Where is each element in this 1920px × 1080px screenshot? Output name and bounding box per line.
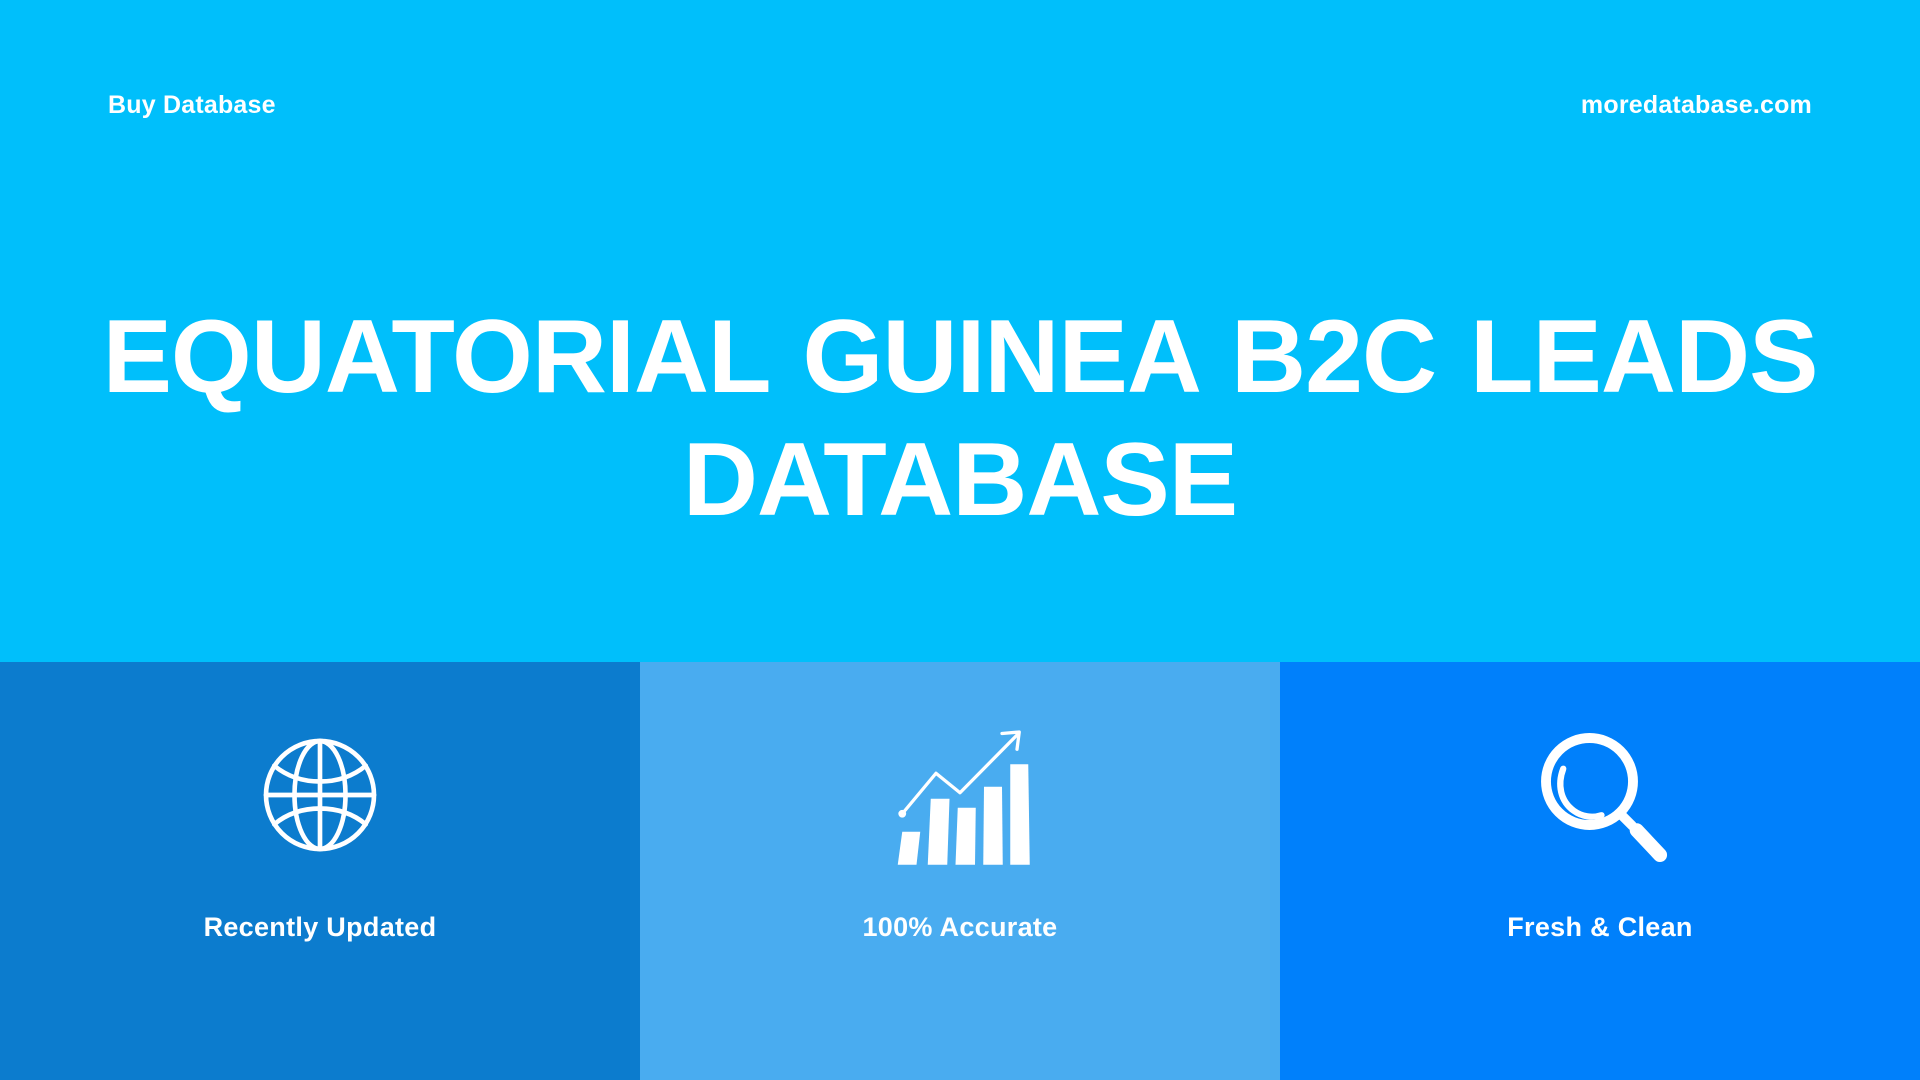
hero-section: Buy Database moredatabase.com EQUATORIAL…: [0, 0, 1920, 662]
promo-banner: Buy Database moredatabase.com EQUATORIAL…: [0, 0, 1920, 1080]
site-url-label: moredatabase.com: [1581, 93, 1812, 118]
feature-panel-label: Recently Updated: [204, 914, 437, 941]
growth-bar-chart-icon: [885, 720, 1035, 870]
magnifier-icon: [1525, 720, 1675, 870]
top-bar: Buy Database moredatabase.com: [0, 0, 1920, 210]
globe-icon: [245, 720, 395, 870]
feature-panel-row: Recently Updated: [0, 662, 1920, 1080]
page-title: EQUATORIAL GUINEA B2C LEADS DATABASE: [40, 296, 1880, 541]
page-title-line-2: DATABASE: [40, 419, 1880, 542]
feature-panel-recently-updated: Recently Updated: [0, 662, 640, 1080]
feature-panel-fresh-clean: Fresh & Clean: [1280, 662, 1920, 1080]
feature-panel-accurate: 100% Accurate: [640, 662, 1280, 1080]
feature-panel-label: 100% Accurate: [862, 914, 1057, 941]
feature-panel-label: Fresh & Clean: [1507, 914, 1692, 941]
page-title-line-1: EQUATORIAL GUINEA B2C LEADS: [40, 296, 1880, 419]
brand-label: Buy Database: [108, 93, 276, 118]
